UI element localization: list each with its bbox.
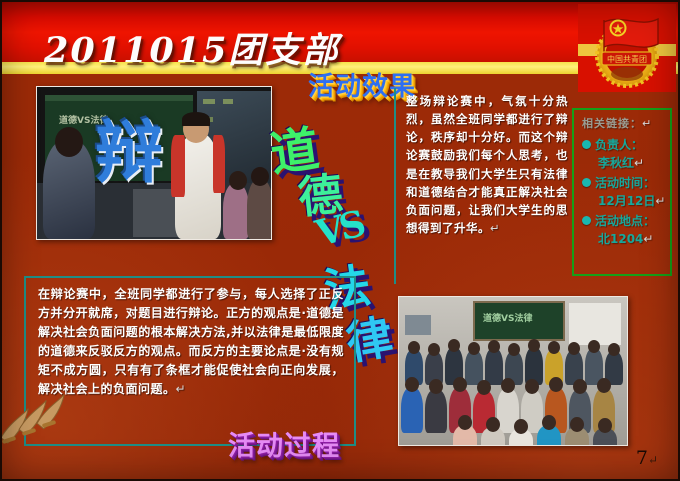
info-value-owner: 李秋红↵ [598,154,664,171]
bullet-dot-icon [582,178,591,187]
presentation-slide: 中国共青团 2011015团支部 活动效果 道德VS法律 辩 道 [0,0,680,481]
info-item-time: 活动时间： 12月12日↵ [582,174,664,209]
info-key-place: 活动地点： [595,212,655,229]
info-value-time: 12月12日↵ [598,192,664,209]
bullet-dot-icon [582,216,591,225]
info-key-owner: 负责人： [595,136,643,153]
info-item-place: 活动地点： 北1204↵ [582,212,664,247]
activity-effect-body: 整场辩论赛中，气氛十分热烈，虽然全班同学都进行了辩论，秩序却十分好。而这个辩论赛… [406,94,568,235]
communist-youth-league-emblem-icon: 中国共青团 [578,4,676,92]
decorative-leaves-icon [0,378,72,450]
info-panel-title: 相关链接：↵ [582,115,664,131]
activity-process-text: 在辩论赛中，全班同学都进行了参与，每人选择了正反方并分开就席，对题目进行辩论。正… [24,276,356,446]
classroom-debate-photo: 道德VS法律 辩 [36,86,272,240]
paragraph-return-mark: ↵ [176,382,187,396]
slide-title: 2011015团支部 [44,22,339,73]
info-value-place: 北1204↵ [598,230,664,247]
heading-activity-process: 活动过程 [228,424,340,463]
photo-overlay-char: 辩 [95,97,163,196]
svg-text:中国共青团: 中国共青团 [607,54,647,64]
class-group-photo: 道德VS法律 [398,296,628,446]
activity-process-body: 在辩论赛中，全班同学都进行了参与，每人选择了正反方并分开就席，对题目进行辩论。正… [38,287,344,396]
page-number: 7↵ [636,447,658,469]
activity-effect-text: 整场辩论赛中，气氛十分热烈，虽然全班同学都进行了辩论，秩序却十分好。而这个辩论赛… [394,88,574,284]
paragraph-return-mark: ↵ [490,221,500,235]
info-key-time: 活动时间： [595,174,655,191]
info-item-owner: 负责人： 李秋红↵ [582,136,664,171]
bullet-dot-icon [582,140,591,149]
related-links-panel: 相关链接：↵ 负责人： 李秋红↵ 活动时间： 12月12日↵ 活动地点： [572,108,672,276]
